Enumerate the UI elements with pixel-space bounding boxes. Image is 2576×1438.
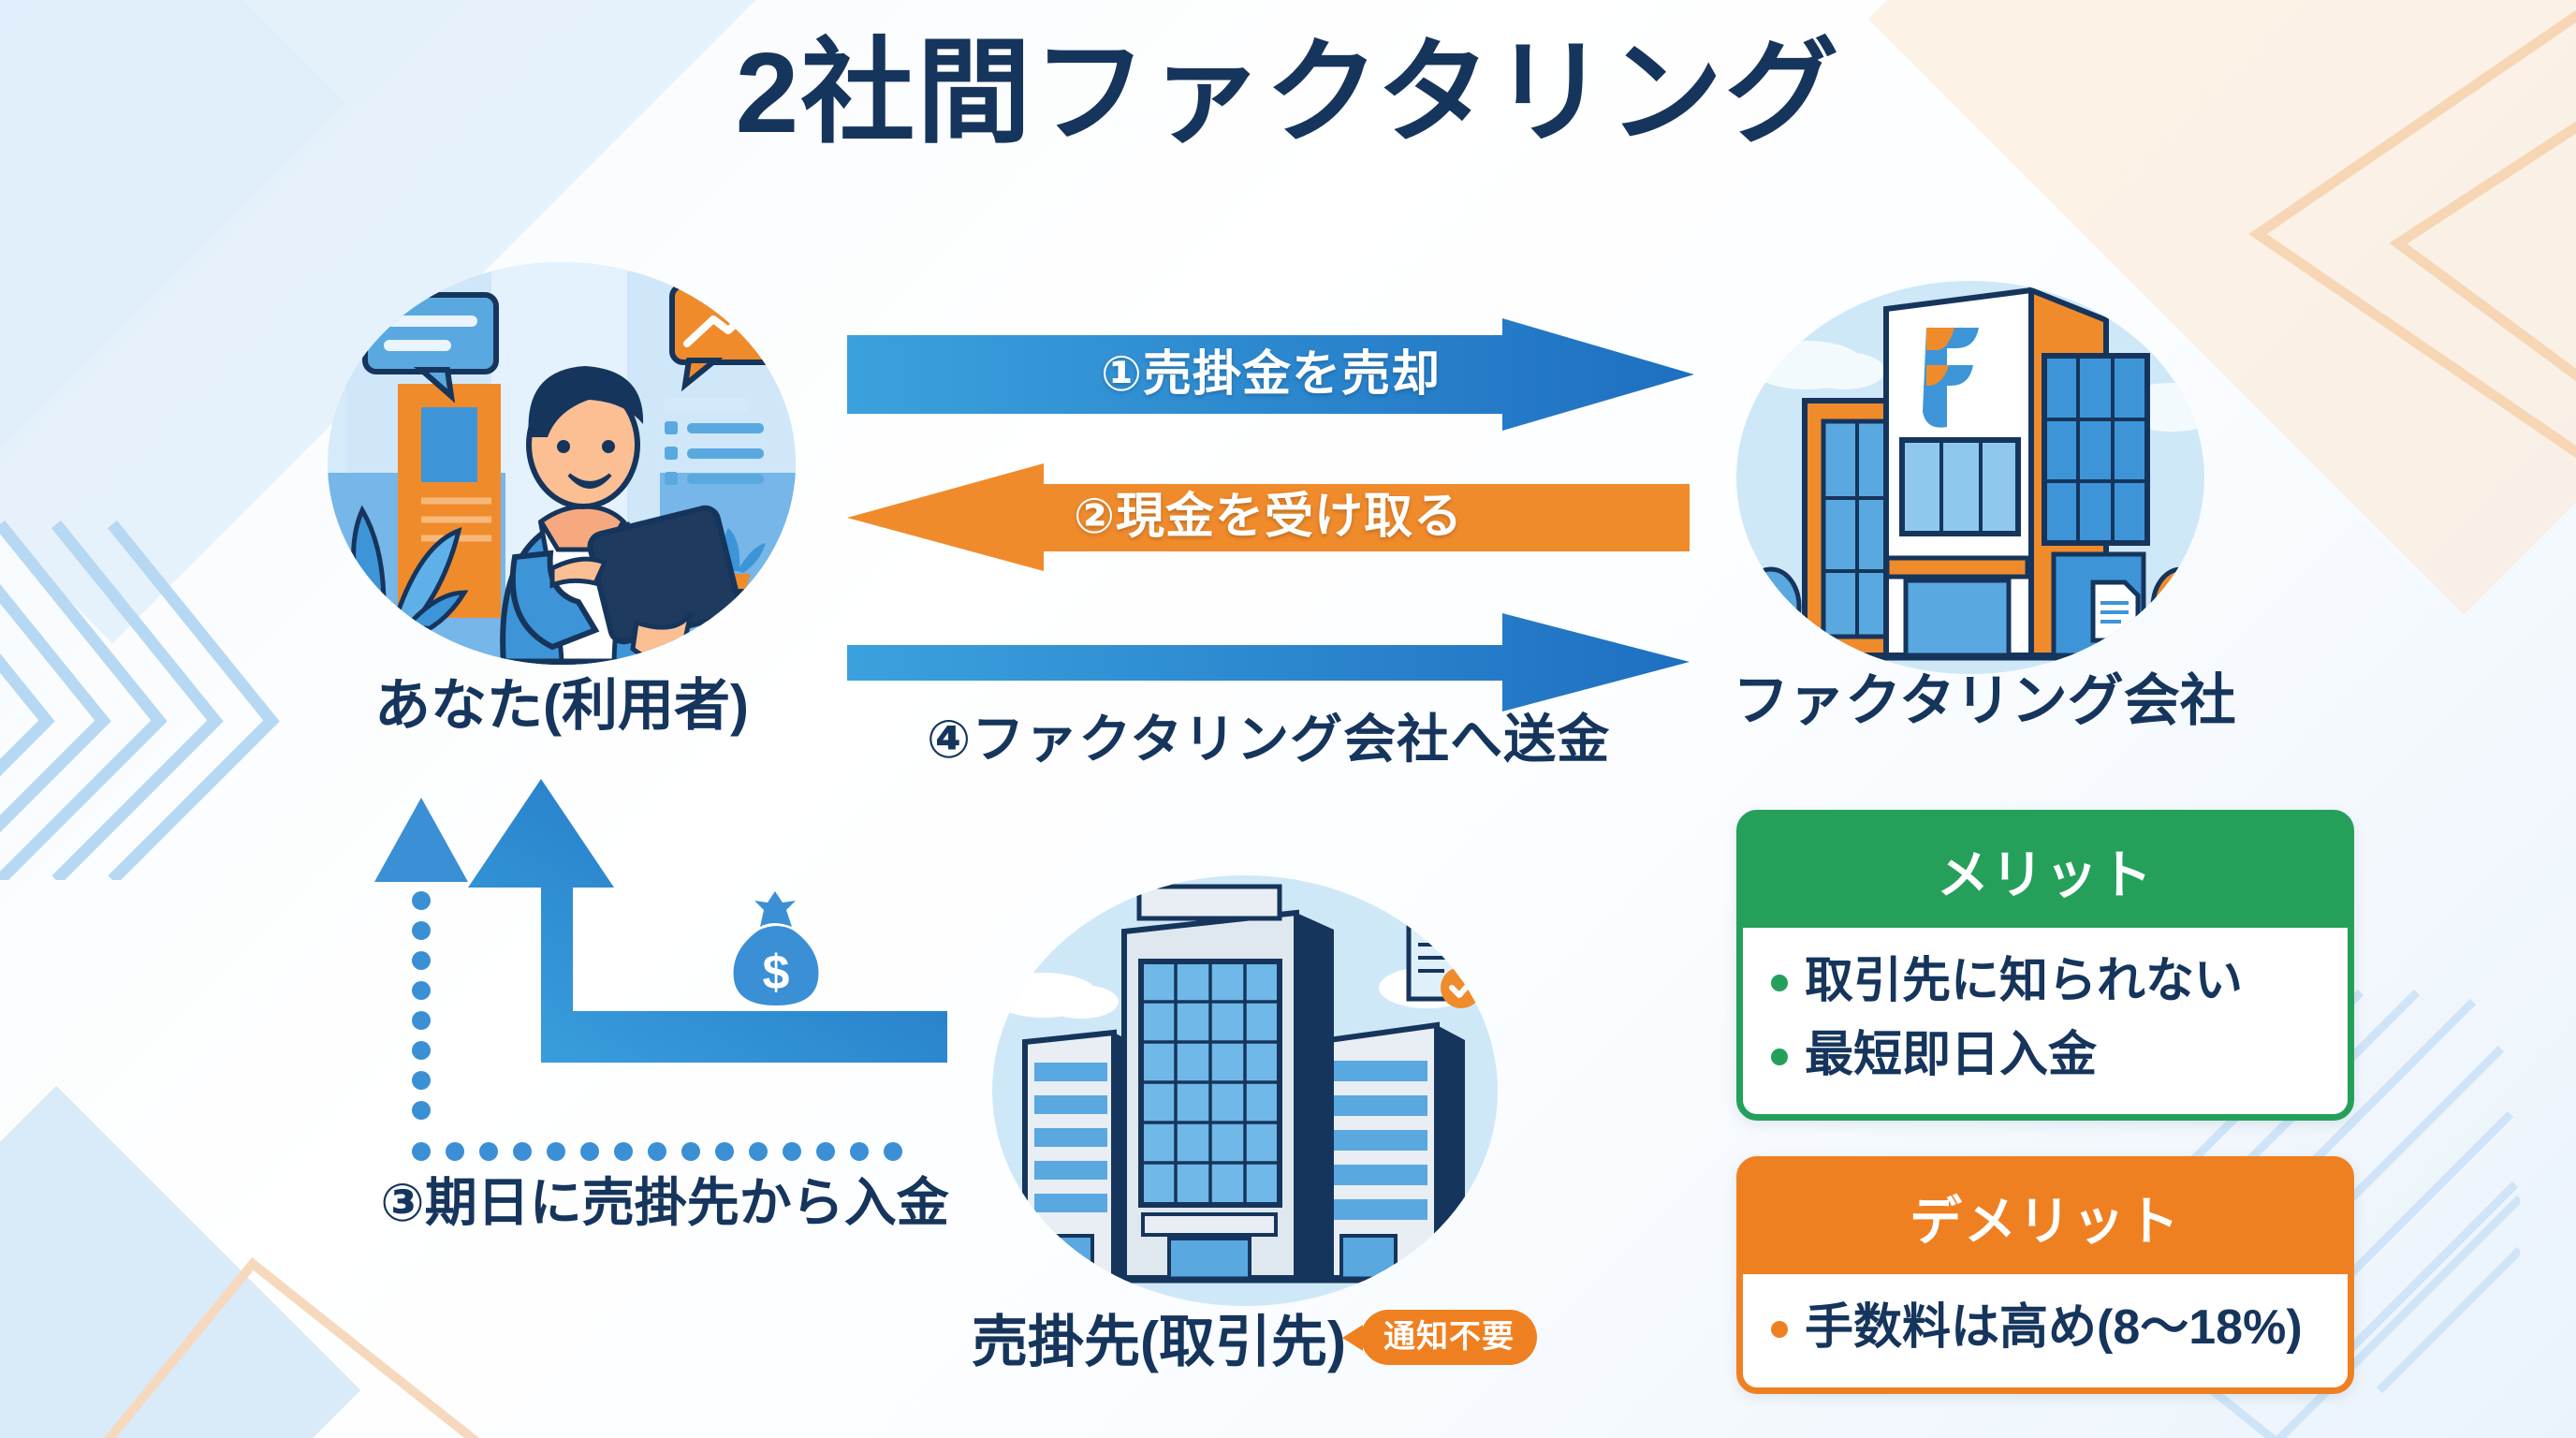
node-label-factoring-company: ファクタリング会社	[1694, 655, 2275, 737]
demerit-card: デメリット 手数料は高め(8〜18%)	[1736, 1156, 2354, 1394]
person-with-tablet-illustration	[290, 239, 833, 669]
flow-arrow-1: ①売掛金を売却	[847, 318, 1694, 431]
flow-arrow-2: ②現金を受け取る	[847, 463, 1690, 571]
bullet-dot-icon	[1771, 1321, 1788, 1338]
merit-card-heading: メリット	[1743, 816, 2348, 928]
client-office-buildings-illustration	[941, 838, 1549, 1315]
merit-card: メリット 取引先に知られない 最短即日入金	[1736, 810, 2354, 1121]
flow-arrow-1-label: ①売掛金を売却	[847, 318, 1694, 431]
background-diamond-bottom-left	[0, 1086, 360, 1438]
flow-arrow-3-label: ③期日に売掛先から入金	[318, 1161, 1011, 1237]
money-bag-icon: $	[734, 891, 819, 1005]
client-label-text: 売掛先(取引先)	[972, 1297, 1346, 1378]
merit-item-1-text: 取引先に知られない	[1805, 950, 2243, 1013]
demerit-card-body: 手数料は高め(8〜18%)	[1743, 1274, 2348, 1387]
bullet-dot-icon	[1771, 975, 1788, 991]
infographic-canvas: 2社間ファクタリング	[0, 0, 2576, 1438]
factoring-company-building-illustration	[1704, 253, 2237, 674]
bullet-dot-icon	[1771, 1049, 1788, 1065]
merit-item-2: 最短即日入金	[1771, 1019, 2320, 1093]
merit-card-body: 取引先に知られない 最短即日入金	[1743, 928, 2348, 1114]
merit-item-1: 取引先に知られない	[1771, 945, 2320, 1019]
flow-arrow-4-label: ④ファクタリング会社へ送金	[833, 697, 1704, 773]
merit-item-2-text: 最短即日入金	[1805, 1024, 2097, 1087]
payment-return-path-icon: $	[374, 777, 955, 1170]
node-label-user: あなた(利用者)	[290, 660, 833, 741]
svg-text:$: $	[763, 946, 790, 1000]
demerit-item-1-text: 手数料は高め(8〜18%)	[1805, 1297, 2303, 1359]
demerit-item-1: 手数料は高め(8〜18%)	[1771, 1291, 2320, 1365]
flow-arrow-2-label: ②現金を受け取る	[847, 463, 1690, 571]
notification-badge: 通知不要	[1361, 1310, 1537, 1365]
page-title: 2社間ファクタリング	[0, 26, 2576, 161]
node-label-client: 売掛先(取引先) 通知不要	[899, 1297, 1610, 1378]
demerit-card-heading: デメリット	[1743, 1163, 2348, 1274]
